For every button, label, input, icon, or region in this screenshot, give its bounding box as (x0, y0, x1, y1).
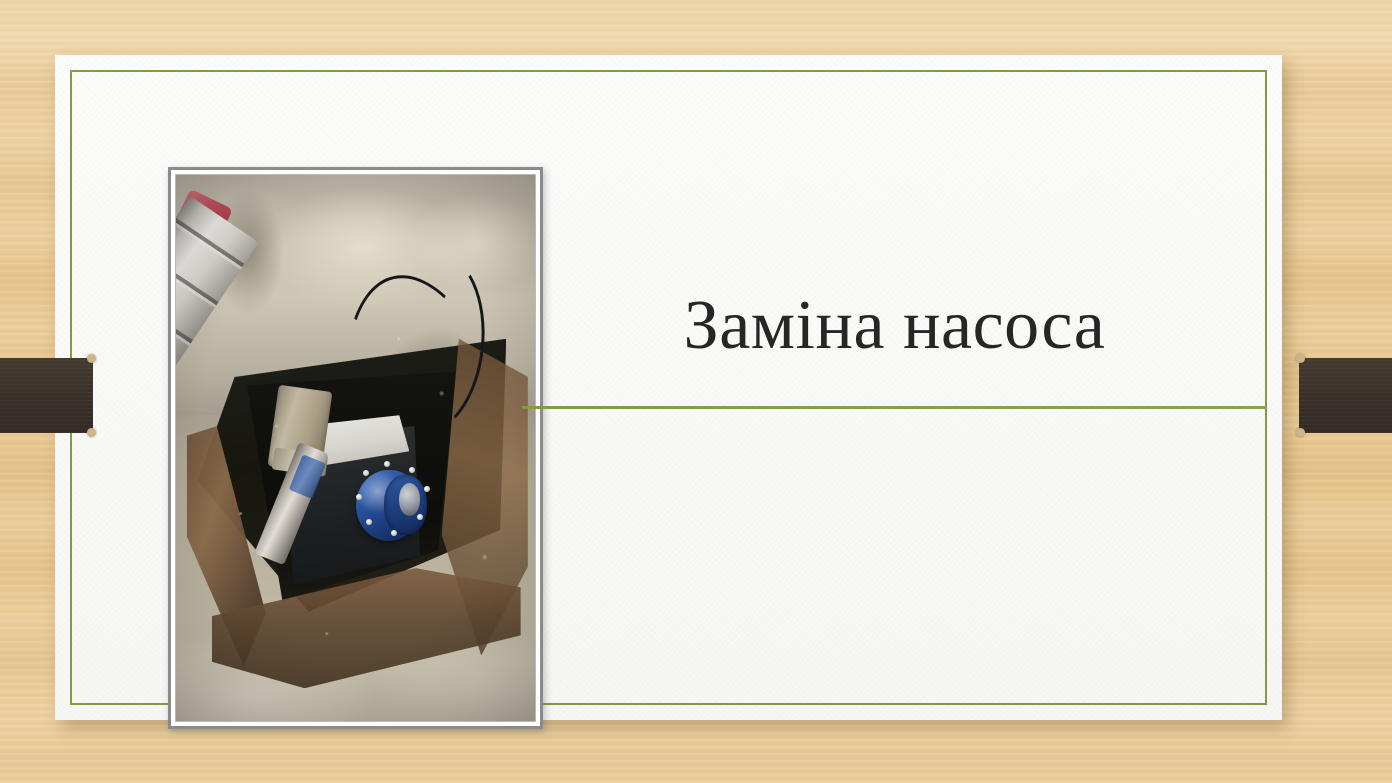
ribbon-cap-top-icon (87, 354, 96, 363)
ribbon-cap-bottom-icon (87, 428, 96, 437)
photo-pump-replacement (175, 174, 536, 722)
slide-title[interactable]: Заміна насоса (522, 285, 1267, 368)
photo-frame[interactable] (168, 167, 543, 729)
title-block: Заміна насоса (522, 285, 1267, 409)
ribbon-tab-left (0, 358, 93, 433)
presentation-slide: Заміна насоса (55, 55, 1282, 720)
photo-pump-bolt (417, 514, 423, 520)
ribbon-tab-right (1299, 358, 1392, 433)
ribbon-cap-bottom-icon (1296, 428, 1305, 437)
photo-pump-bolt (409, 467, 415, 473)
photo-pump-bolt (424, 486, 430, 492)
title-underline-rule (522, 406, 1267, 409)
photo-pump-bolt (363, 470, 369, 476)
ribbon-cap-top-icon (1296, 354, 1305, 363)
photo-pump-bolt (356, 494, 362, 500)
photo-pump-hub (399, 483, 421, 516)
